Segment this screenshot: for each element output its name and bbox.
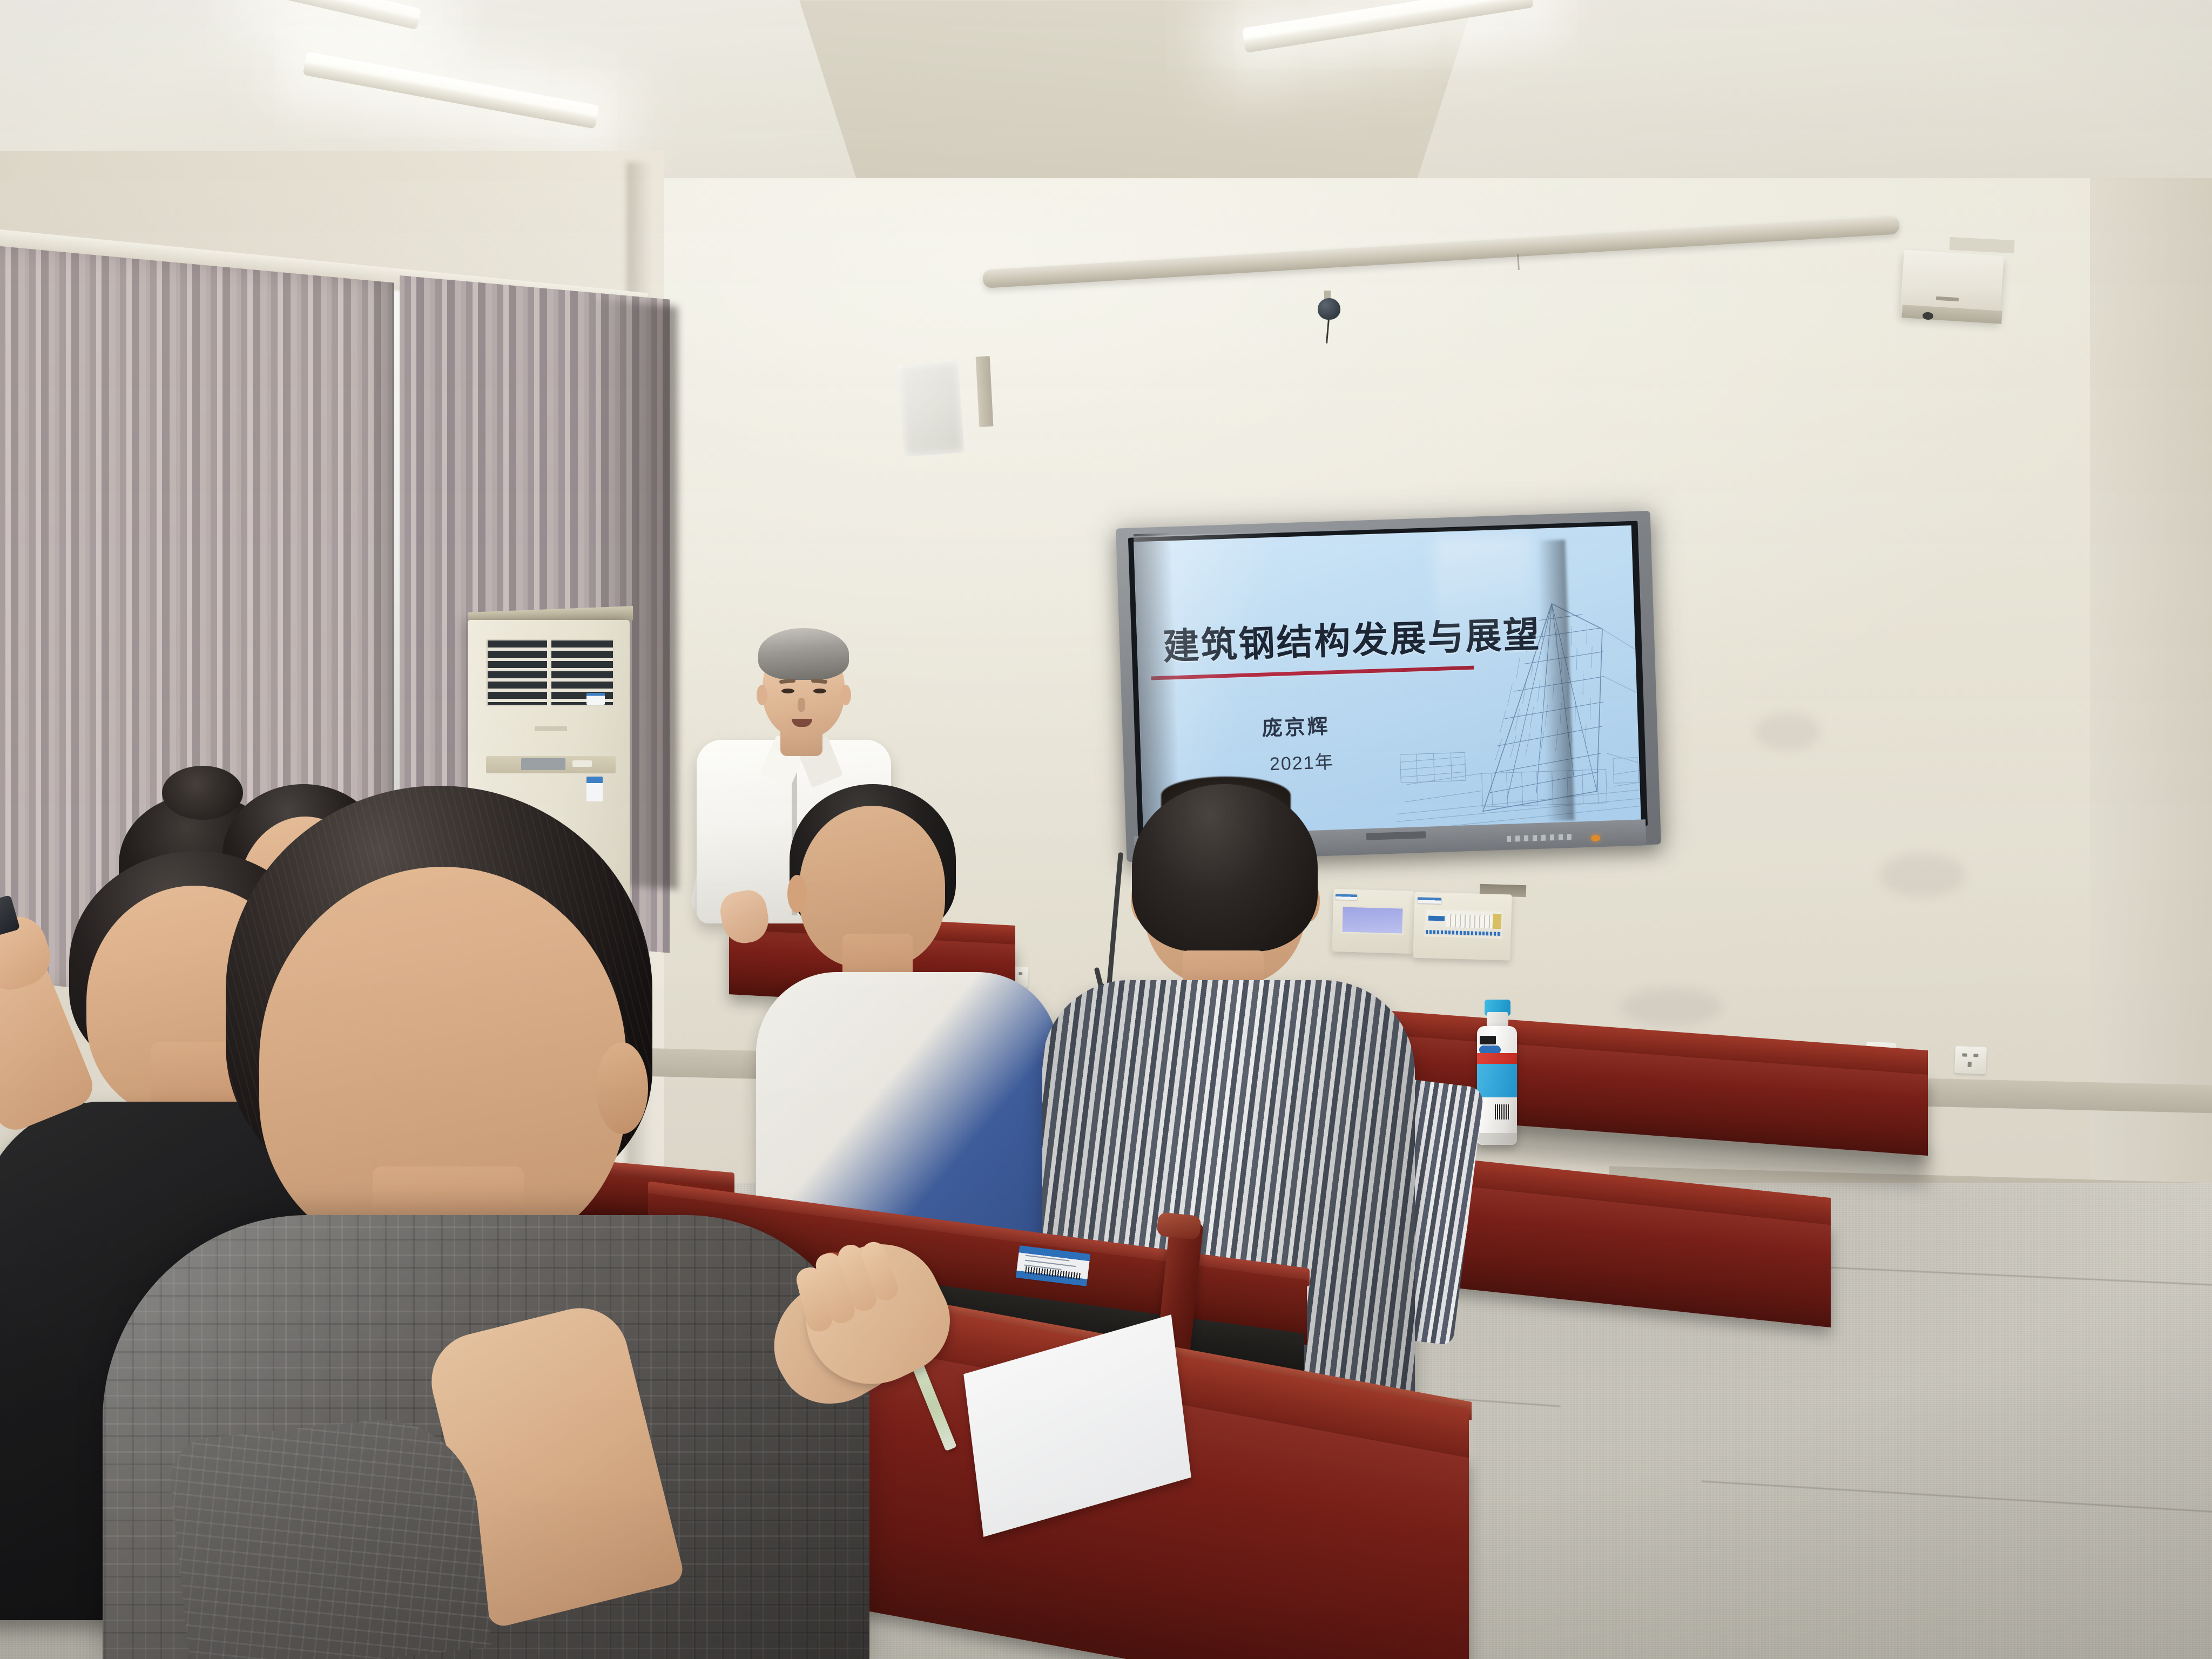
slide-artwork-sketch — [1388, 536, 1641, 831]
bottle-label-blue-band — [1477, 1064, 1517, 1097]
lecturer-ear — [757, 685, 767, 705]
equipment-label — [1336, 894, 1357, 900]
bottle-label-mark — [1480, 1036, 1496, 1044]
slide-author: 庞京辉 — [1262, 710, 1331, 741]
attendee-ear — [596, 1042, 648, 1134]
distribution-box-window — [1340, 905, 1404, 935]
equipment-label — [1418, 897, 1441, 903]
wall-outlet-icon[interactable] — [1954, 1046, 1987, 1074]
wall-smudge — [1879, 853, 1966, 896]
bottle-base — [1477, 1133, 1517, 1145]
attendee-hair-bun — [162, 766, 243, 820]
attendee-ear — [787, 875, 807, 913]
air-conditioner-sticker — [586, 693, 605, 705]
wall-smudge — [1755, 713, 1820, 751]
right-wall-return — [2090, 178, 2212, 1285]
lecture-room-photo: 建筑钢结构发展与展望 庞京辉 2021年 — [0, 0, 2212, 1659]
air-conditioner-brand-plate — [535, 726, 567, 731]
circuit-breaker-row-icon — [1446, 914, 1493, 928]
lecturer-eye — [813, 689, 826, 693]
plastic-wrapped-fixture — [898, 361, 965, 456]
slide-year: 2021年 — [1269, 747, 1334, 775]
air-conditioner-display — [521, 758, 565, 770]
lecturer-hair — [758, 628, 849, 680]
lecturer-nose — [798, 698, 805, 712]
bench-armrest-cap — [1156, 1212, 1202, 1240]
breaker-warning-marker — [1493, 914, 1502, 929]
attendee-hair — [1132, 784, 1318, 952]
air-conditioner-button[interactable] — [572, 760, 592, 767]
lecturer-ear — [840, 685, 851, 705]
lecturer-eye — [781, 689, 794, 693]
slide-title: 建筑钢结构发展与展望 — [1162, 608, 1466, 670]
air-conditioner-sticker — [586, 777, 603, 801]
wall-smudge — [1620, 988, 1723, 1026]
main-breaker-icon — [1428, 916, 1445, 921]
shirt-sleeve — [167, 1411, 493, 1659]
bottle-barcode — [1495, 1104, 1510, 1120]
air-conditioner-grille-divider — [547, 639, 551, 706]
